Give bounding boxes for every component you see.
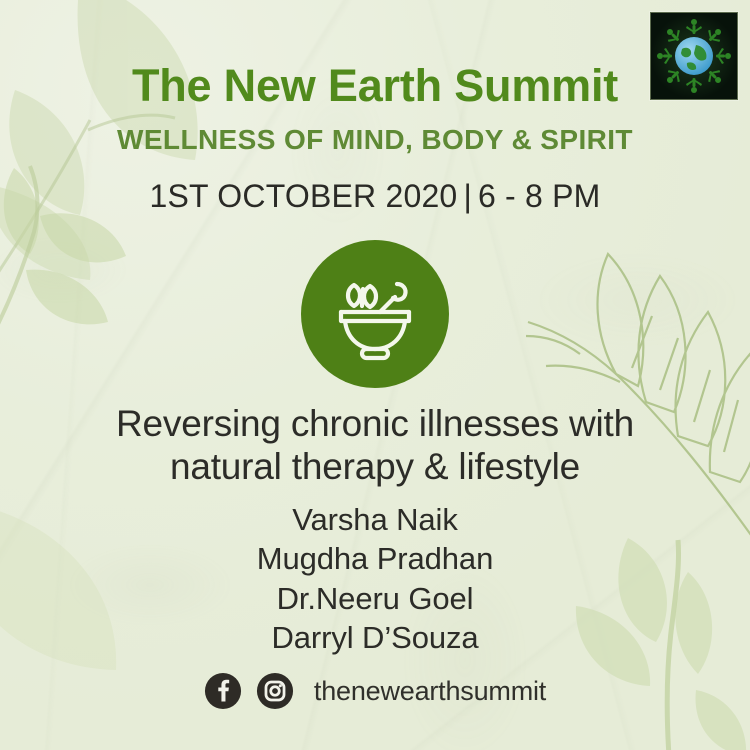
instagram-icon[interactable] bbox=[256, 672, 294, 710]
datetime-separator: | bbox=[457, 178, 478, 214]
event-poster: The New Earth Summit WELLNESS OF MIND, B… bbox=[0, 0, 750, 750]
facebook-icon[interactable] bbox=[204, 672, 242, 710]
poster-subtitle: WELLNESS OF MIND, BODY & SPIRIT bbox=[0, 126, 750, 154]
speaker-list: Varsha Naik Mugdha Pradhan Dr.Neeru Goel… bbox=[0, 500, 750, 657]
list-item: Varsha Naik bbox=[0, 500, 750, 539]
headline: Reversing chronic illnesses with natural… bbox=[40, 403, 710, 489]
page-title: The New Earth Summit bbox=[0, 63, 750, 108]
event-datetime: 1ST OCTOBER 2020|6 - 8 PM bbox=[0, 180, 750, 212]
list-item: Mugdha Pradhan bbox=[0, 539, 750, 578]
event-time: 6 - 8 PM bbox=[478, 178, 601, 214]
headline-line-2: natural therapy & lifestyle bbox=[40, 446, 710, 489]
headline-line-1: Reversing chronic illnesses with bbox=[40, 403, 710, 446]
social-handle[interactable]: thenewearthsummit bbox=[314, 678, 546, 705]
event-date: 1ST OCTOBER 2020 bbox=[150, 178, 458, 214]
social-footer: thenewearthsummit bbox=[0, 672, 750, 710]
list-item: Darryl D’Souza bbox=[0, 618, 750, 657]
list-item: Dr.Neeru Goel bbox=[0, 579, 750, 618]
mortar-and-pestle-bowl-with-leaves-icon bbox=[301, 240, 449, 388]
